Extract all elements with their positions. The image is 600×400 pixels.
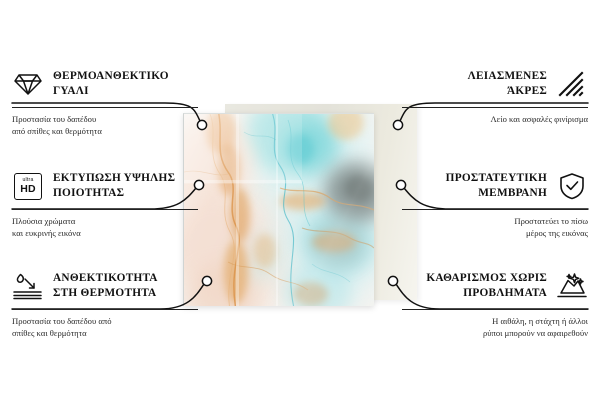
feature-header: ΚΑΘΑΡΙΣΜΟΣ ΧΩΡΙΣ ΠΡΟΒΛΗΜΑΤΑ bbox=[402, 270, 588, 304]
feature-high-quality-print: ultra HD ΕΚΤΥΠΩΣΗ ΥΨΗΛΗΣ ΠΟΙΟΤΗΤΑΣ Πλούσ… bbox=[12, 170, 198, 239]
feature-header: ultra HD ΕΚΤΥΠΩΣΗ ΥΨΗΛΗΣ ΠΟΙΟΤΗΤΑΣ bbox=[12, 170, 198, 204]
feature-description: Λείο και ασφαλές φινίρισμα bbox=[402, 113, 588, 125]
feature-divider bbox=[12, 107, 198, 108]
feature-header: ΘΕΡΜΟΑΝΘΕΚΤΙΚΟ ΓΥΑΛΙ bbox=[12, 68, 198, 102]
feature-header: ΑΝΘΕΚΤΙΚΟΤΗΤΑ ΣΤΗ ΘΕΡΜΟΤΗΤΑ bbox=[12, 270, 198, 304]
feature-polished-edges: ΛΕΙΑΣΜΕΝΕΣ ΆΚΡΕΣ Λείο και ασφαλές φινίρι… bbox=[402, 68, 588, 125]
ultra-hd-large-label: HD bbox=[20, 184, 36, 195]
feature-title: ΘΕΡΜΟΑΝΘΕΚΤΙΚΟ ΓΥΑΛΙ bbox=[53, 68, 169, 98]
feature-easy-cleaning: ΚΑΘΑΡΙΣΜΟΣ ΧΩΡΙΣ ΠΡΟΒΛΗΜΑΤΑ Η αιθάλη, η … bbox=[402, 270, 588, 339]
heat-resistance-icon bbox=[12, 270, 44, 302]
feature-title: ΚΑΘΑΡΙΣΜΟΣ ΧΩΡΙΣ ΠΡΟΒΛΗΜΑΤΑ bbox=[426, 270, 547, 300]
feature-divider bbox=[12, 209, 198, 210]
marble-veins bbox=[184, 114, 374, 306]
printed-glass-panel bbox=[183, 113, 374, 306]
feature-title: ΑΝΘΕΚΤΙΚΟΤΗΤΑ ΣΤΗ ΘΕΡΜΟΤΗΤΑ bbox=[53, 270, 158, 300]
feature-title: ΠΡΟΣΤΑΤΕΥΤΙΚΗ ΜΕΜΒΡΑΝΗ bbox=[446, 170, 547, 200]
feature-heat-resistant-glass: ΘΕΡΜΟΑΝΘΕΚΤΙΚΟ ΓΥΑΛΙ Προστασία του δαπέδ… bbox=[12, 68, 198, 137]
ultra-hd-icon: ultra HD bbox=[12, 170, 44, 202]
feature-description: Προστασία του δαπέδου από σπίθες και θερ… bbox=[12, 315, 198, 339]
feature-description: Η αιθάλη, η στάχτη ή άλλοι ρύποι μπορούν… bbox=[402, 315, 588, 339]
feature-title: ΛΕΙΑΣΜΕΝΕΣ ΆΚΡΕΣ bbox=[468, 68, 547, 98]
feature-title: ΕΚΤΥΠΩΣΗ ΥΨΗΛΗΣ ΠΟΙΟΤΗΤΑΣ bbox=[53, 170, 175, 200]
feature-divider bbox=[402, 107, 588, 108]
feature-divider bbox=[402, 309, 588, 310]
polished-edges-icon bbox=[556, 68, 588, 100]
infographic-canvas: ΘΕΡΜΟΑΝΘΕΚΤΙΚΟ ΓΥΑΛΙ Προστασία του δαπέδ… bbox=[0, 0, 600, 400]
feature-header: ΠΡΟΣΤΑΤΕΥΤΙΚΗ ΜΕΜΒΡΑΝΗ bbox=[402, 170, 588, 204]
feature-description: Προστασία του δαπέδου από σπίθες και θερ… bbox=[12, 113, 198, 137]
feature-description: Προστατεύει το πίσω μέρος της εικόνας bbox=[402, 215, 588, 239]
feature-protective-membrane: ΠΡΟΣΤΑΤΕΥΤΙΚΗ ΜΕΜΒΡΑΝΗ Προστατεύει το πί… bbox=[402, 170, 588, 239]
feature-description: Πλούσια χρώματα και ευκρινής εικόνα bbox=[12, 215, 198, 239]
feature-divider bbox=[402, 209, 588, 210]
shield-check-icon bbox=[556, 170, 588, 202]
feature-header: ΛΕΙΑΣΜΕΝΕΣ ΆΚΡΕΣ bbox=[402, 68, 588, 102]
product-image bbox=[183, 105, 420, 305]
feature-heat-durability: ΑΝΘΕΚΤΙΚΟΤΗΤΑ ΣΤΗ ΘΕΡΜΟΤΗΤΑ Προστασία το… bbox=[12, 270, 198, 339]
feature-divider bbox=[12, 309, 198, 310]
easy-cleaning-icon bbox=[556, 270, 588, 302]
diamond-icon bbox=[12, 68, 44, 100]
